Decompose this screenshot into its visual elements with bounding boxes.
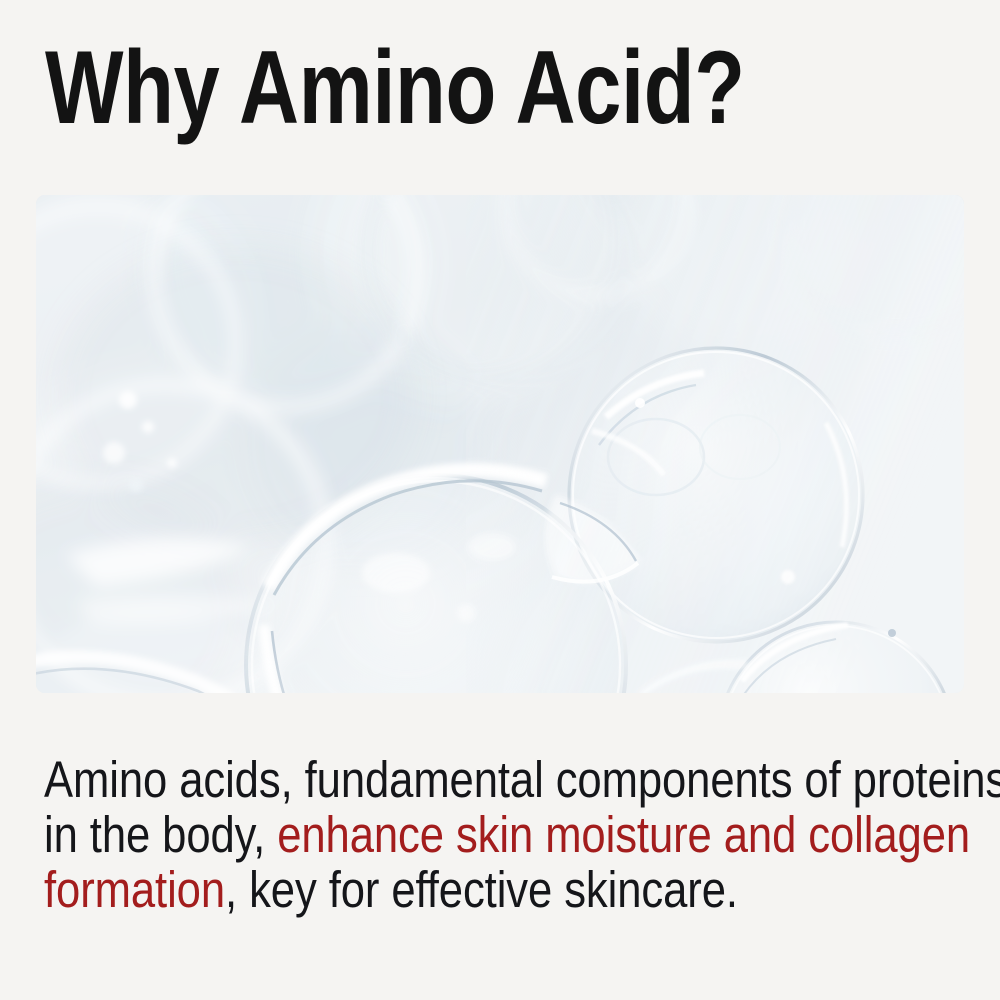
body-line-2-lead: in the body, [44, 806, 277, 863]
body-line-3: formation, key for effective skincare. [44, 862, 814, 917]
hero-image-bubbles [36, 195, 964, 693]
amino-acid-infographic-page: Why Amino Acid? [0, 0, 1000, 1000]
bubbles-illustration [36, 195, 964, 693]
body-accent-phrase-part2: formation [44, 861, 225, 918]
body-line-3-tail: , key for effective skincare. [225, 861, 738, 918]
body-paragraph: Amino acids, fundamental components of p… [44, 752, 814, 917]
body-line-2: in the body, enhance skin moisture and c… [44, 807, 814, 862]
page-title: Why Amino Acid? [45, 36, 765, 140]
body-accent-phrase-part1: enhance skin moisture and collagen [277, 806, 970, 863]
body-line-1: Amino acids, fundamental components of p… [44, 752, 814, 807]
body-line-1-text: Amino acids, fundamental components of p… [44, 751, 1000, 808]
